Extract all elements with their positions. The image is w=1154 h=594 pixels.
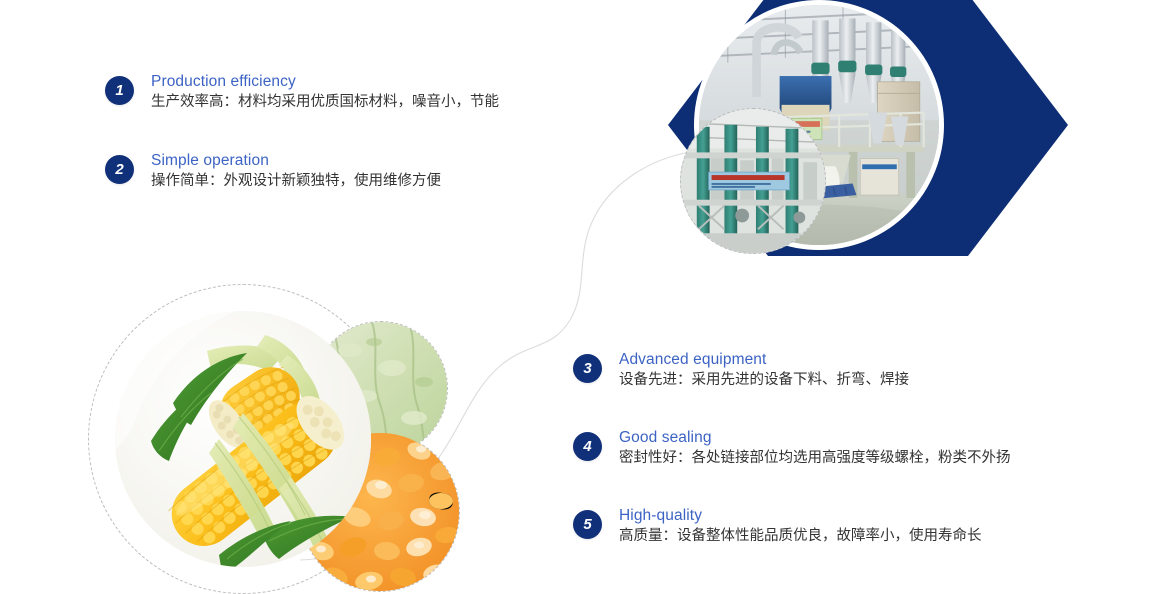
feature-item-2[interactable]: 2 Simple operation 操作简单：外观设计新颖独特，使用维修方便 (105, 155, 441, 192)
feature-item-5[interactable]: 5 High-quality 高质量：设备整体性能品质优良，故障率小，使用寿命长 (573, 510, 982, 547)
feature-item-1[interactable]: 1 Production efficiency 生产效率高：材料均采用优质国标材… (105, 76, 499, 113)
feature-heading-5: High-quality (619, 506, 982, 525)
feature-text-5: High-quality 高质量：设备整体性能品质优良，故障率小，使用寿命长 (619, 506, 982, 547)
green-mill-equipment-photo (680, 108, 826, 254)
feature-heading-2: Simple operation (151, 151, 441, 170)
feature-description-2: 操作简单：外观设计新颖独特，使用维修方便 (151, 171, 441, 192)
feature-item-3[interactable]: 3 Advanced equipment 设备先进：采用先进的设备下料、折弯、焊… (573, 354, 909, 391)
corn-cob-photo (115, 311, 371, 567)
feature-text-1: Production efficiency 生产效率高：材料均采用优质国标材料，… (151, 72, 499, 113)
feature-heading-3: Advanced equipment (619, 350, 909, 369)
feature-description-5: 高质量：设备整体性能品质优良，故障率小，使用寿命长 (619, 526, 982, 547)
feature-description-4: 密封性好：各处链接部位均选用高强度等级螺栓，粉类不外扬 (619, 448, 1011, 469)
feature-text-3: Advanced equipment 设备先进：采用先进的设备下料、折弯、焊接 (619, 350, 909, 391)
feature-description-1: 生产效率高：材料均采用优质国标材料，噪音小，节能 (151, 92, 499, 113)
feature-badge-3: 3 (573, 354, 602, 383)
feature-badge-4: 4 (573, 432, 602, 461)
corn-photo-cluster (88, 284, 488, 591)
feature-description-3: 设备先进：采用先进的设备下料、折弯、焊接 (619, 370, 909, 391)
feature-badge-2: 2 (105, 155, 134, 184)
feature-text-2: Simple operation 操作简单：外观设计新颖独特，使用维修方便 (151, 151, 441, 192)
infographic-canvas: 1 Production efficiency 生产效率高：材料均采用优质国标材… (0, 0, 1154, 591)
feature-badge-5: 5 (573, 510, 602, 539)
feature-heading-1: Production efficiency (151, 72, 499, 91)
feature-text-4: Good sealing 密封性好：各处链接部位均选用高强度等级螺栓，粉类不外扬 (619, 428, 1011, 469)
feature-badge-1: 1 (105, 76, 134, 105)
feature-item-4[interactable]: 4 Good sealing 密封性好：各处链接部位均选用高强度等级螺栓，粉类不… (573, 432, 1011, 469)
feature-heading-4: Good sealing (619, 428, 1011, 447)
